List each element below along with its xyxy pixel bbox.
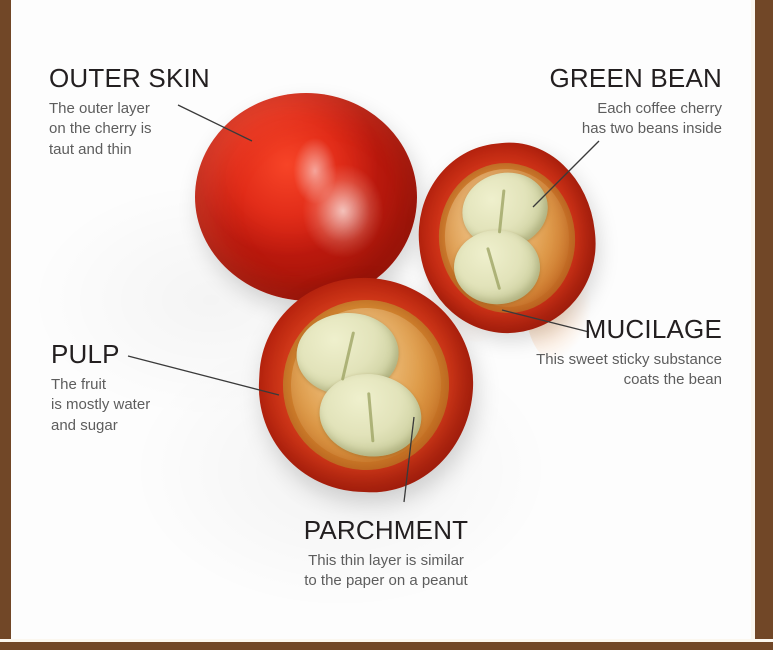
label-mucilage-description: This sweet sticky substance coats the be…	[500, 350, 722, 391]
label-parchment: PARCHMENT This thin layer is similar to …	[262, 516, 510, 592]
frame-border-right	[755, 0, 773, 650]
label-pulp: PULP The fruit is mostly water and sugar	[51, 340, 150, 437]
label-pulp-title: PULP	[51, 340, 150, 369]
whole-cherry-photo	[195, 93, 417, 301]
right-half-bean-lower	[454, 230, 540, 304]
label-green-bean: GREEN BEAN Each coffee cherry has two be…	[492, 64, 722, 140]
label-green-bean-description: Each coffee cherry has two beans inside	[492, 99, 722, 140]
bottom-half-cherry-photo	[254, 273, 479, 498]
label-outer-skin: OUTER SKIN The outer layer on the cherry…	[49, 64, 210, 161]
label-outer-skin-title: OUTER SKIN	[49, 64, 210, 93]
label-outer-skin-description: The outer layer on the cherry is taut an…	[49, 99, 210, 161]
label-green-bean-title: GREEN BEAN	[492, 64, 722, 93]
coffee-cherry-infographic: OUTER SKIN The outer layer on the cherry…	[0, 0, 773, 650]
label-parchment-description: This thin layer is similar to the paper …	[262, 551, 510, 592]
frame-border-bottom	[0, 642, 773, 650]
label-mucilage-title: MUCILAGE	[500, 315, 722, 344]
label-mucilage: MUCILAGE This sweet sticky substance coa…	[500, 315, 722, 391]
frame-border-left	[0, 0, 11, 650]
label-parchment-title: PARCHMENT	[262, 516, 510, 545]
label-pulp-description: The fruit is mostly water and sugar	[51, 375, 150, 437]
